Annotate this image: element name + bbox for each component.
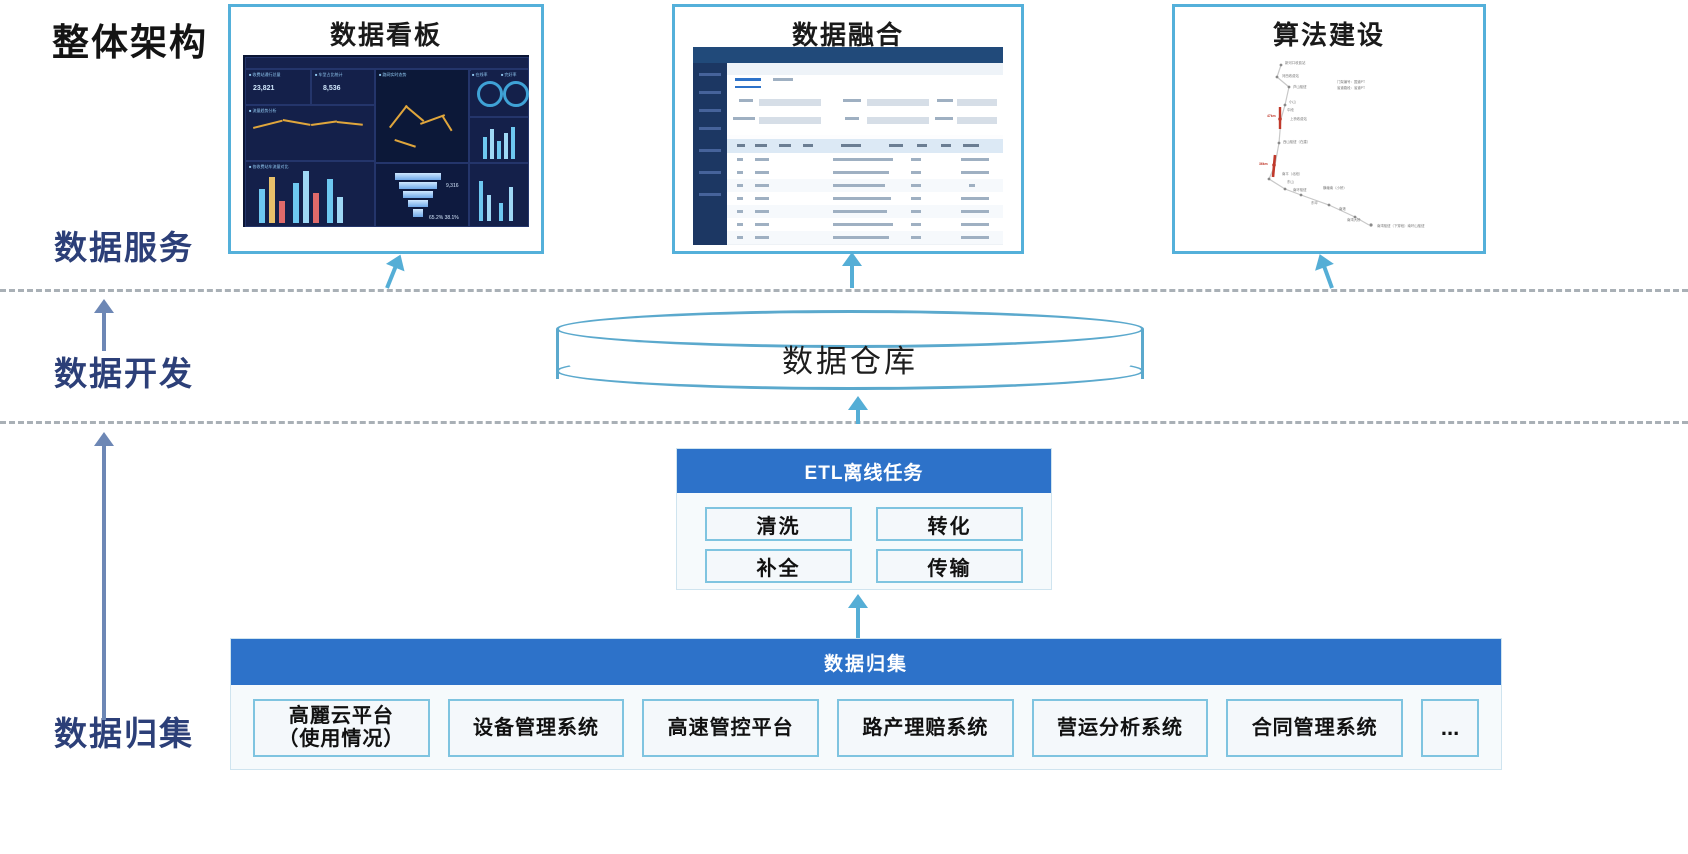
source-gaoli-cloud-platform[interactable]: 高麗云平台 （使用情况） [253, 699, 430, 757]
source-equipment-management[interactable]: 设备管理系统 [448, 699, 625, 757]
divider-develop-collect [0, 421, 1688, 424]
svg-text:小山: 小山 [1289, 99, 1296, 104]
svg-text:门架编号：国道PT: 门架编号：国道PT [1337, 79, 1365, 84]
svg-text:省道路段：省道PT: 省道路段：省道PT [1337, 85, 1365, 90]
svg-text:东坪: 东坪 [1311, 200, 1318, 205]
etl-step-transform[interactable]: 转化 [876, 507, 1023, 541]
stage-label-data-service: 数据服务 [54, 221, 194, 269]
card-algorithm-construction[interactable]: 算法建设 新河口收费站 河西收费站 芦山枢纽 小山 中段 [1172, 4, 1486, 254]
data-collection-panel[interactable]: 数据归集 高麗云平台 （使用情况） 设备管理系统 高速管控平台 路产理赔系统 营… [230, 638, 1502, 770]
source-contract-management[interactable]: 合同管理系统 [1226, 699, 1403, 757]
svg-text:南港: 南港 [1339, 206, 1346, 211]
svg-text:南湾大桥: 南湾大桥 [1347, 217, 1361, 222]
arrow-up-icon-warehouse-to-service [846, 396, 870, 424]
data-warehouse-cylinder[interactable]: 数据仓库 [556, 310, 1144, 390]
bi-dashboard-screenshot: ■ 收费站通行总量 ■ 车型占比统计 23,821 8,536 ■ 流量趋势分析… [243, 55, 529, 227]
arrow-up-icon-to-fusion [840, 252, 864, 288]
arrow-shaft [856, 604, 860, 638]
source-road-claims[interactable]: 路产理赔系统 [837, 699, 1014, 757]
route-network-screenshot: 新河口收费站 河西收费站 芦山枢纽 小山 中段 上桥收费站 西山枢纽（在建） 南… [1189, 47, 1469, 247]
etl-step-transmission[interactable]: 传输 [876, 549, 1023, 583]
arrow-shaft [102, 442, 106, 720]
etl-step-completion[interactable]: 补全 [705, 549, 852, 583]
svg-text:芦山枢纽: 芦山枢纽 [1293, 84, 1307, 89]
page-title: 整体架构 [52, 12, 208, 66]
data-collection-header: 数据归集 [231, 639, 1501, 685]
arrow-shaft [856, 406, 860, 424]
svg-text:南湾枢纽（下穿段）南环山枢纽: 南湾枢纽（下穿段）南环山枢纽 [1377, 223, 1425, 228]
source-more-ellipsis[interactable]: ... [1421, 699, 1479, 757]
arrow-shaft [850, 262, 854, 288]
arrow-shaft [385, 263, 398, 289]
data-source-list: 高麗云平台 （使用情况） 设备管理系统 高速管控平台 路产理赔系统 营运分析系统… [231, 691, 1501, 769]
route-network-graph: 新河口收费站 河西收费站 芦山枢纽 小山 中段 上桥收费站 西山枢纽（在建） 南… [1189, 47, 1469, 247]
svg-text:中段: 中段 [1287, 107, 1294, 112]
source-highway-control[interactable]: 高速管控平台 [642, 699, 819, 757]
svg-text:河西收费站: 河西收费站 [1282, 73, 1300, 78]
arrow-up-icon-develop-to-service [92, 299, 116, 351]
arrow-shaft [1321, 263, 1334, 289]
card-title-dashboard: 数据看板 [231, 15, 541, 52]
card-data-fusion[interactable]: 数据融合 [672, 4, 1024, 254]
arrow-up-icon-collect-to-etl [846, 594, 870, 638]
svg-text:南环枢纽: 南环枢纽 [1293, 187, 1307, 192]
arrow-up-icon-collect-to-develop [92, 432, 116, 720]
card-data-dashboard[interactable]: 数据看板 ■ 收费站通行总量 ■ 车型占比统计 23,821 8,536 ■ 流… [228, 4, 544, 254]
svg-text:新河口收费站: 新河口收费站 [1285, 60, 1306, 65]
source-operation-analysis[interactable]: 营运分析系统 [1032, 699, 1209, 757]
arrow-shaft [102, 309, 106, 351]
stage-label-data-development: 数据开发 [54, 347, 194, 395]
svg-text:47km: 47km [1267, 114, 1276, 118]
svg-text:横塘南（小桥）: 横塘南（小桥） [1323, 185, 1347, 190]
data-warehouse-label: 数据仓库 [556, 336, 1144, 381]
svg-text:西山枢纽（在建）: 西山枢纽（在建） [1283, 139, 1310, 144]
etl-offline-task-panel[interactable]: ETL离线任务 清洗 转化 补全 传输 [676, 448, 1052, 590]
arrow-up-icon-to-dashboard [376, 250, 412, 292]
divider-service-develop [0, 289, 1688, 292]
etl-step-grid: 清洗 转化 补全 传输 [677, 499, 1051, 591]
svg-text:南平（北段）: 南平（北段） [1282, 171, 1302, 176]
data-table-screenshot [693, 47, 1003, 245]
svg-text:东山: 东山 [1287, 179, 1294, 184]
stage-label-data-collection: 数据归集 [54, 707, 194, 755]
svg-text:36km: 36km [1259, 162, 1268, 166]
etl-step-cleaning[interactable]: 清洗 [705, 507, 852, 541]
etl-panel-header: ETL离线任务 [677, 449, 1051, 493]
arrow-up-icon-to-algorithm [1308, 250, 1343, 292]
svg-text:上桥收费站: 上桥收费站 [1290, 116, 1308, 121]
